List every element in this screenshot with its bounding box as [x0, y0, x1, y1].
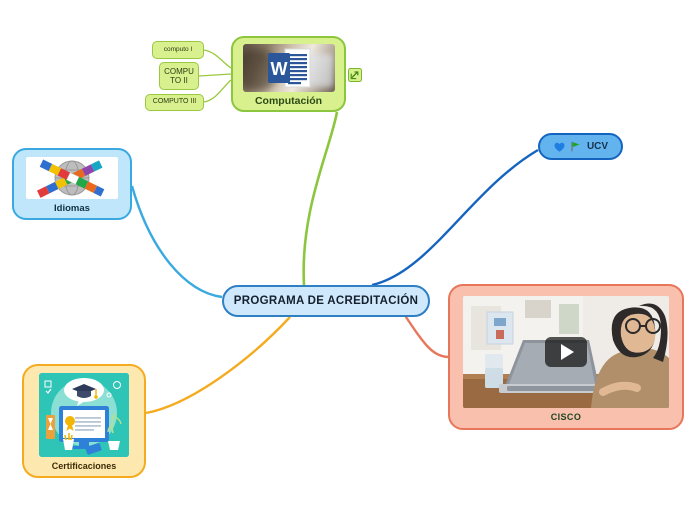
- connector-computacion: [304, 112, 337, 285]
- node-idiomas[interactable]: Idiomas: [12, 148, 132, 220]
- connector-ucv: [372, 150, 538, 285]
- svg-text:W: W: [270, 59, 287, 79]
- diploma-monitor-icon: [39, 373, 129, 457]
- ucv-label: UCV: [587, 141, 608, 152]
- computacion-label: Computación: [255, 95, 322, 107]
- connector-subnode-1: [204, 50, 231, 68]
- connector-cisco: [404, 314, 448, 357]
- idiomas-thumbnail: [26, 157, 118, 199]
- node-certificaciones[interactable]: Certificaciones: [22, 364, 146, 478]
- cisco-label: CISCO: [551, 412, 582, 422]
- play-button-icon[interactable]: [545, 337, 587, 367]
- node-ucv[interactable]: UCV: [538, 133, 623, 160]
- certificaciones-label: Certificaciones: [52, 461, 117, 471]
- word-document-icon: W: [267, 48, 311, 88]
- idiomas-label: Idiomas: [54, 203, 90, 214]
- central-node[interactable]: PROGRAMA DE ACREDITACIÓN: [222, 285, 430, 317]
- node-cisco[interactable]: CISCO: [448, 284, 684, 430]
- central-node-label: PROGRAMA DE ACREDITACIÓN: [234, 295, 418, 307]
- subnode-computo-2-label: COMPU TO II: [160, 67, 198, 85]
- node-computacion[interactable]: W Computación: [231, 36, 346, 112]
- subnode-computo-1[interactable]: computo I: [152, 41, 204, 59]
- mindmap-canvas: PROGRAMA DE ACREDITACIÓN W Com: [0, 0, 696, 520]
- subnode-computo-3-label: COMPUTO III: [153, 98, 196, 106]
- certificaciones-thumbnail: [39, 373, 129, 457]
- subnode-computo-3[interactable]: COMPUTO III: [145, 94, 204, 111]
- connector-idiomas: [132, 186, 222, 297]
- external-link-icon[interactable]: [348, 68, 362, 82]
- subnode-computo-2[interactable]: COMPU TO II: [159, 62, 199, 90]
- computacion-thumbnail: W: [243, 44, 335, 92]
- play-triangle: [561, 344, 574, 360]
- subnode-computo-1-label: computo I: [164, 46, 193, 53]
- globe-flags-icon: [26, 157, 118, 199]
- connector-subnode-2: [199, 74, 231, 76]
- connector-subnode-3: [204, 80, 231, 102]
- heart-icon: [553, 140, 566, 153]
- connector-certificaciones: [146, 317, 290, 413]
- flag-icon: [569, 140, 582, 153]
- cisco-video-thumbnail[interactable]: [463, 296, 669, 408]
